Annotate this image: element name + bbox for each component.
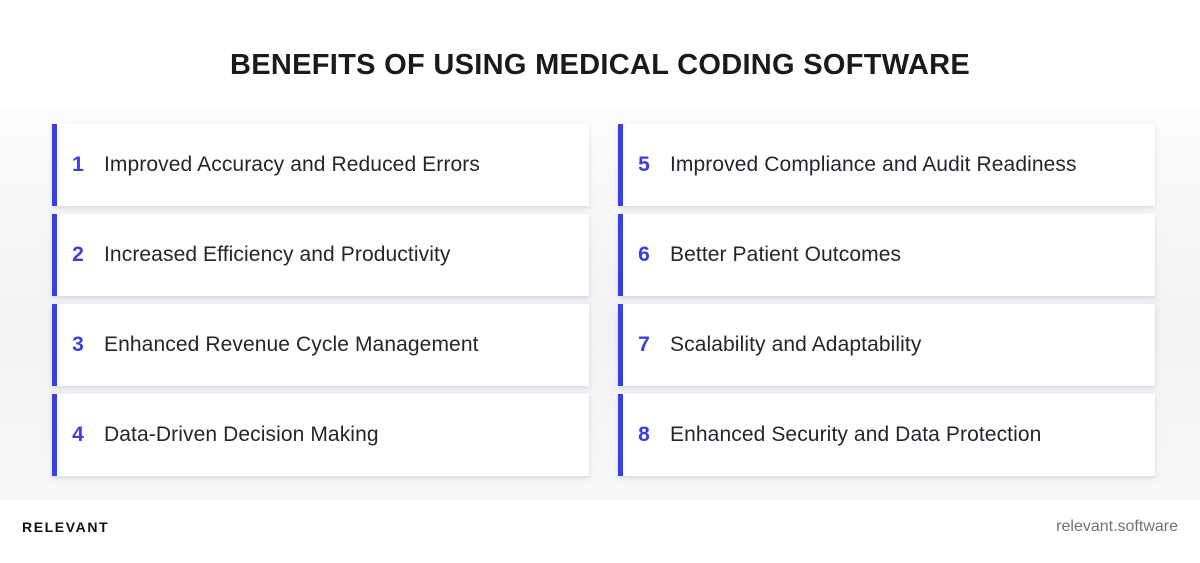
brand-website-url: relevant.software (1056, 518, 1178, 536)
benefit-card[interactable]: 1 Improved Accuracy and Reduced Errors (52, 124, 589, 206)
benefit-label: Improved Accuracy and Reduced Errors (104, 152, 589, 178)
benefit-label: Increased Efficiency and Productivity (104, 242, 589, 268)
benefit-label: Data-Driven Decision Making (104, 422, 589, 448)
benefit-card[interactable]: 3 Enhanced Revenue Cycle Management (52, 304, 589, 386)
benefit-number: 8 (618, 423, 670, 447)
benefit-label: Better Patient Outcomes (670, 242, 1155, 268)
brand-logo: RELEVANT (22, 519, 109, 535)
accent-bar-icon (618, 304, 623, 386)
benefit-card[interactable]: 4 Data-Driven Decision Making (52, 394, 589, 476)
accent-bar-icon (52, 124, 57, 206)
accent-bar-icon (52, 214, 57, 296)
benefit-number: 5 (618, 153, 670, 177)
benefit-number: 6 (618, 243, 670, 267)
benefit-card[interactable]: 2 Increased Efficiency and Productivity (52, 214, 589, 296)
benefits-column-left: 1 Improved Accuracy and Reduced Errors 2… (52, 124, 589, 476)
benefit-number: 3 (52, 333, 104, 357)
benefit-card[interactable]: 6 Better Patient Outcomes (618, 214, 1155, 296)
benefit-number: 4 (52, 423, 104, 447)
benefit-label: Improved Compliance and Audit Readiness (670, 152, 1155, 178)
benefit-label: Enhanced Revenue Cycle Management (104, 332, 589, 358)
accent-bar-icon (618, 394, 623, 476)
benefits-grid: 1 Improved Accuracy and Reduced Errors 2… (52, 124, 1155, 476)
benefit-number: 7 (618, 333, 670, 357)
page-title: BENEFITS OF USING MEDICAL CODING SOFTWAR… (0, 50, 1200, 82)
benefit-label: Scalability and Adaptability (670, 332, 1155, 358)
benefit-card[interactable]: 7 Scalability and Adaptability (618, 304, 1155, 386)
benefit-number: 1 (52, 153, 104, 177)
benefit-card[interactable]: 8 Enhanced Security and Data Protection (618, 394, 1155, 476)
accent-bar-icon (52, 304, 57, 386)
accent-bar-icon (618, 214, 623, 296)
infographic-root: BENEFITS OF USING MEDICAL CODING SOFTWAR… (0, 0, 1200, 563)
benefit-card[interactable]: 5 Improved Compliance and Audit Readines… (618, 124, 1155, 206)
benefit-label: Enhanced Security and Data Protection (670, 422, 1155, 448)
accent-bar-icon (52, 394, 57, 476)
benefit-number: 2 (52, 243, 104, 267)
benefits-column-right: 5 Improved Compliance and Audit Readines… (618, 124, 1155, 476)
accent-bar-icon (618, 124, 623, 206)
footer: RELEVANT relevant.software (0, 500, 1200, 563)
